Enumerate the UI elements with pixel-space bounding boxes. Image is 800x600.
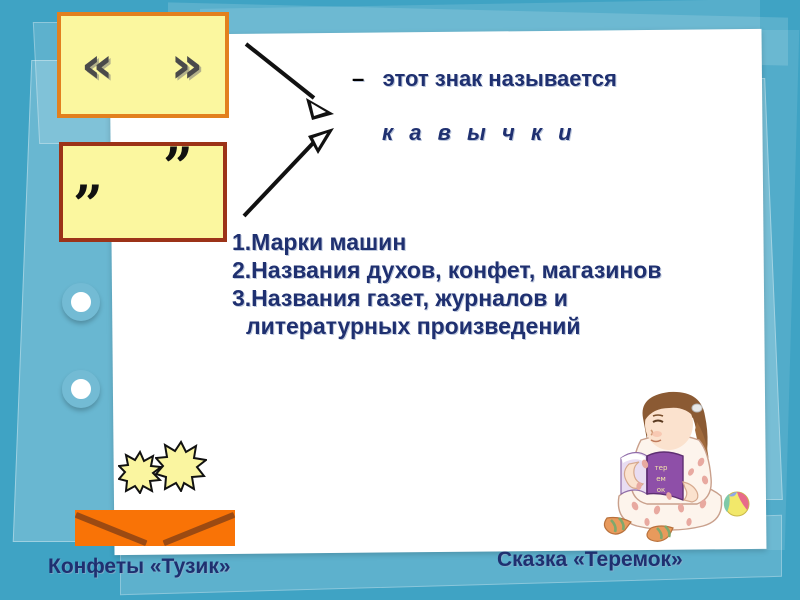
headline: – этот знак называется [352, 66, 752, 92]
svg-text:ок: ок [657, 486, 666, 494]
candy-crease [163, 512, 236, 546]
pointer-arrows [238, 36, 378, 226]
girl-reading-book-illustration: тер ем ок [585, 378, 760, 543]
sparkle-burst-icon [155, 440, 207, 492]
arrow-up-right-shaft [244, 140, 316, 216]
guillemet-close-icon: » [171, 40, 203, 90]
guillemets-box: « » [57, 12, 229, 118]
list-item: 1.Марки машин [232, 228, 792, 256]
list-item: 3.Названия газет, журналов и [232, 284, 792, 312]
slide-stage: « » ” ” – этот знак называется к а в ы ч… [0, 0, 800, 600]
binder-ring-icon [62, 283, 100, 321]
candy-wrapper [75, 510, 235, 546]
svg-text:ем: ем [656, 475, 666, 483]
binder-ring-icon [62, 370, 100, 408]
arrow-down-right-shaft [246, 44, 314, 98]
numbered-list: 1.Марки машин 2.Названия духов, конфет, … [232, 228, 792, 340]
svg-text:тер: тер [655, 464, 668, 472]
caption-candy: Конфеты «Тузик» [48, 555, 231, 579]
list-item: 2.Названия духов, конфет, магазинов [232, 256, 792, 284]
low-quote-upper-icon: ” [163, 142, 193, 194]
term-kavychki: к а в ы ч к и [382, 120, 577, 146]
list-item: литературных произведений [232, 312, 792, 340]
low-quote-lower-icon: ” [73, 180, 103, 232]
candy-crease [75, 512, 148, 546]
headline-text: этот знак называется [383, 66, 617, 91]
guillemet-open-icon: « [81, 40, 113, 90]
low-quotes-box: ” ” [59, 142, 227, 242]
em-dash: – [352, 66, 364, 91]
caption-fairytale: Сказка «Теремок» [497, 548, 683, 572]
